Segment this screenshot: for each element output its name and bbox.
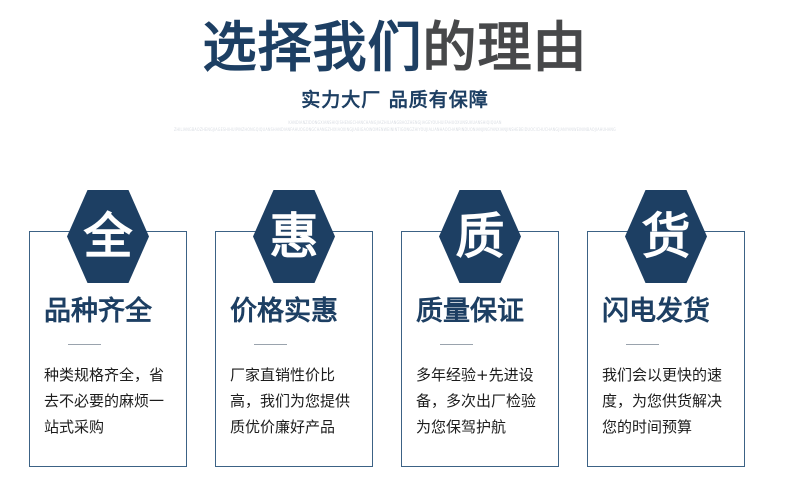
hexagon-badge: 质 bbox=[439, 190, 521, 283]
feature-card-heading: 价格实惠 bbox=[230, 296, 380, 328]
feature-card-divider bbox=[440, 344, 473, 345]
feature-card-row: 全 品种齐全 种类规格齐全，省去不必要的麻烦一站式采购 惠 价格实惠 厂家直销性… bbox=[0, 0, 790, 489]
feature-card-body: 多年经验+先进设备，多次出厂检验为您保驾护航 bbox=[416, 362, 538, 440]
feature-card-body: 厂家直销性价比高，我们为您提供质优价廉好产品 bbox=[230, 362, 352, 440]
hexagon-badge-char: 质 bbox=[439, 190, 521, 283]
feature-card-heading: 品种齐全 bbox=[44, 296, 194, 328]
feature-card-divider bbox=[626, 344, 659, 345]
feature-card-body: 种类规格齐全，省去不必要的麻烦一站式采购 bbox=[44, 362, 166, 440]
hexagon-badge-char: 惠 bbox=[253, 190, 335, 283]
feature-card-heading: 质量保证 bbox=[416, 296, 566, 328]
feature-card-divider bbox=[254, 344, 287, 345]
hexagon-badge: 惠 bbox=[253, 190, 335, 283]
feature-card-divider bbox=[68, 344, 101, 345]
feature-card-heading: 闪电发货 bbox=[602, 296, 752, 328]
hexagon-badge: 全 bbox=[67, 190, 149, 283]
hexagon-badge: 货 bbox=[625, 190, 707, 283]
hexagon-badge-char: 全 bbox=[67, 190, 149, 283]
feature-card-body: 我们会以更快的速度，为您供货解决您的时间预算 bbox=[602, 362, 724, 440]
hexagon-badge-char: 货 bbox=[625, 190, 707, 283]
